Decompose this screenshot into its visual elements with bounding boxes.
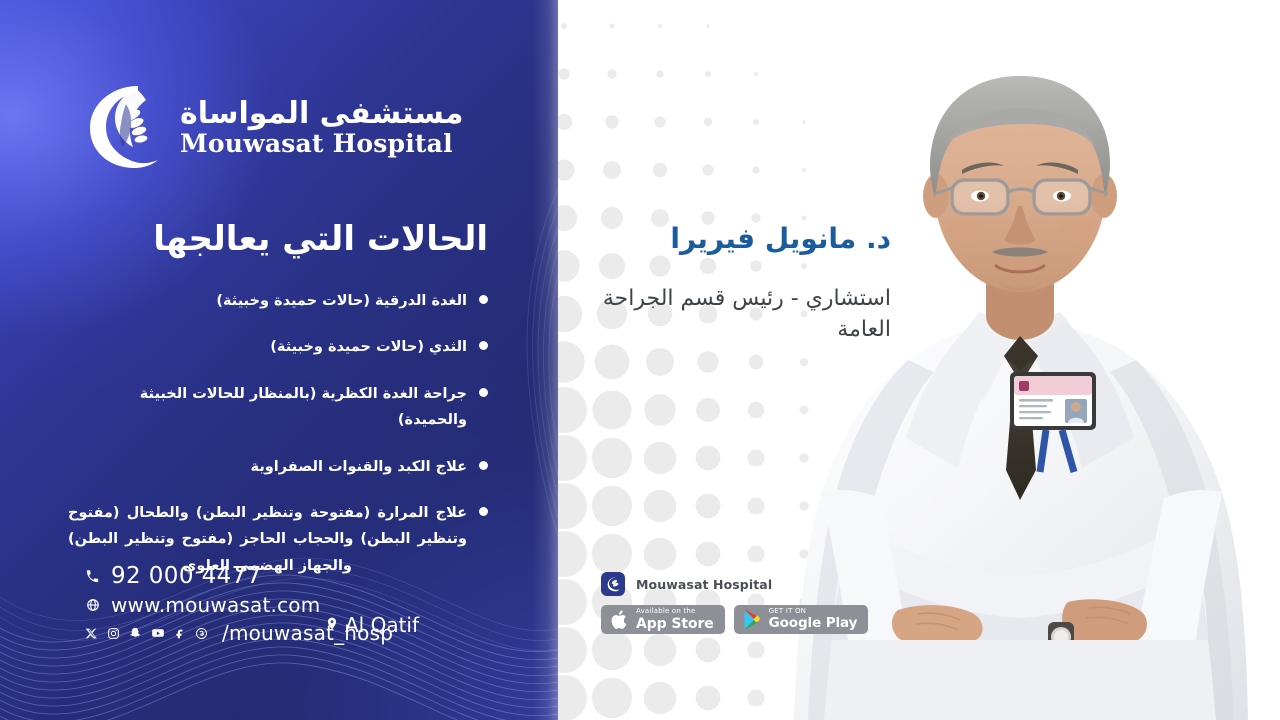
- globe-icon: [84, 597, 101, 614]
- website-row[interactable]: www.mouwasat.com: [84, 593, 514, 617]
- app-store-label: App Store: [636, 617, 714, 631]
- conditions-list: الغدة الدرقية (حالات حميدة وخبيثة) الثدي…: [68, 288, 488, 599]
- list-item-label: علاج الكبد والقنوات الصفراوية: [68, 454, 467, 480]
- poster-canvas: مستشفى المواساة Mouwasat Hospital الحالا…: [0, 0, 1280, 720]
- social-row: /mouwasat_hosp: [84, 621, 514, 645]
- left-blue-panel: مستشفى المواساة Mouwasat Hospital الحالا…: [0, 0, 558, 720]
- facebook-icon[interactable]: [172, 626, 187, 641]
- bullet-dot-icon: [479, 341, 488, 350]
- list-item: علاج الكبد والقنوات الصفراوية: [68, 454, 488, 480]
- app-download-block: Mouwasat Hospital Available on the App S…: [601, 572, 868, 634]
- crescent-feather-logo-icon: [86, 84, 166, 170]
- bullet-dot-icon: [479, 507, 488, 516]
- x-twitter-icon[interactable]: [84, 626, 99, 641]
- apple-logo-icon: [610, 609, 629, 631]
- section-heading: الحالات التي يعالجها: [68, 219, 488, 259]
- location-block: Al Qatif: [325, 613, 419, 637]
- youtube-icon[interactable]: [150, 626, 165, 641]
- phone-row[interactable]: 92 000 4477: [84, 563, 514, 589]
- app-store-button[interactable]: Available on the App Store: [601, 605, 725, 634]
- google-play-label: Google Play: [769, 617, 858, 631]
- phone-icon: [84, 568, 101, 585]
- google-play-icon: [743, 609, 762, 630]
- list-item-label: جراحة الغدة الكظرية (بالمنظار للحالات ال…: [68, 381, 467, 434]
- threads-icon[interactable]: [194, 626, 209, 641]
- bullet-dot-icon: [479, 388, 488, 397]
- phone-number: 92 000 4477: [111, 563, 262, 589]
- bullet-dot-icon: [479, 295, 488, 304]
- right-white-panel: د. مانويل فيريرا استشاري - رئيس قسم الجر…: [558, 0, 1280, 720]
- store-badges: Available on the App Store G: [601, 605, 868, 634]
- instagram-icon[interactable]: [106, 626, 121, 641]
- google-play-button[interactable]: GET IT ON Google Play: [734, 605, 869, 634]
- list-item: الثدي (حالات حميدة وخبيثة): [68, 334, 488, 360]
- map-pin-icon: [325, 613, 339, 637]
- contact-block: 92 000 4477 www.mouwasat.com: [84, 563, 514, 645]
- list-item: جراحة الغدة الكظرية (بالمنظار للحالات ال…: [68, 381, 488, 434]
- doctor-name: د. مانويل فيريرا: [571, 222, 891, 255]
- brand-name-arabic: مستشفى المواساة: [180, 99, 464, 129]
- app-name-label: Mouwasat Hospital: [636, 577, 772, 592]
- app-store-small-label: Available on the: [636, 608, 714, 615]
- list-item-label: الثدي (حالات حميدة وخبيثة): [68, 334, 467, 360]
- location-label: Al Qatif: [345, 613, 419, 637]
- brand-name-english: Mouwasat Hospital: [180, 131, 464, 156]
- app-header: Mouwasat Hospital: [601, 572, 868, 596]
- doctor-title: استشاري - رئيس قسم الجراحة العامة: [571, 283, 891, 345]
- website-url: www.mouwasat.com: [111, 593, 320, 617]
- brand-logo: مستشفى المواساة Mouwasat Hospital: [86, 84, 464, 170]
- bullet-dot-icon: [479, 461, 488, 470]
- google-play-small-label: GET IT ON: [769, 608, 858, 615]
- snapchat-icon[interactable]: [128, 626, 143, 641]
- mouwasat-app-icon: [601, 572, 625, 596]
- list-item: الغدة الدرقية (حالات حميدة وخبيثة): [68, 288, 488, 314]
- list-item-label: الغدة الدرقية (حالات حميدة وخبيثة): [68, 288, 467, 314]
